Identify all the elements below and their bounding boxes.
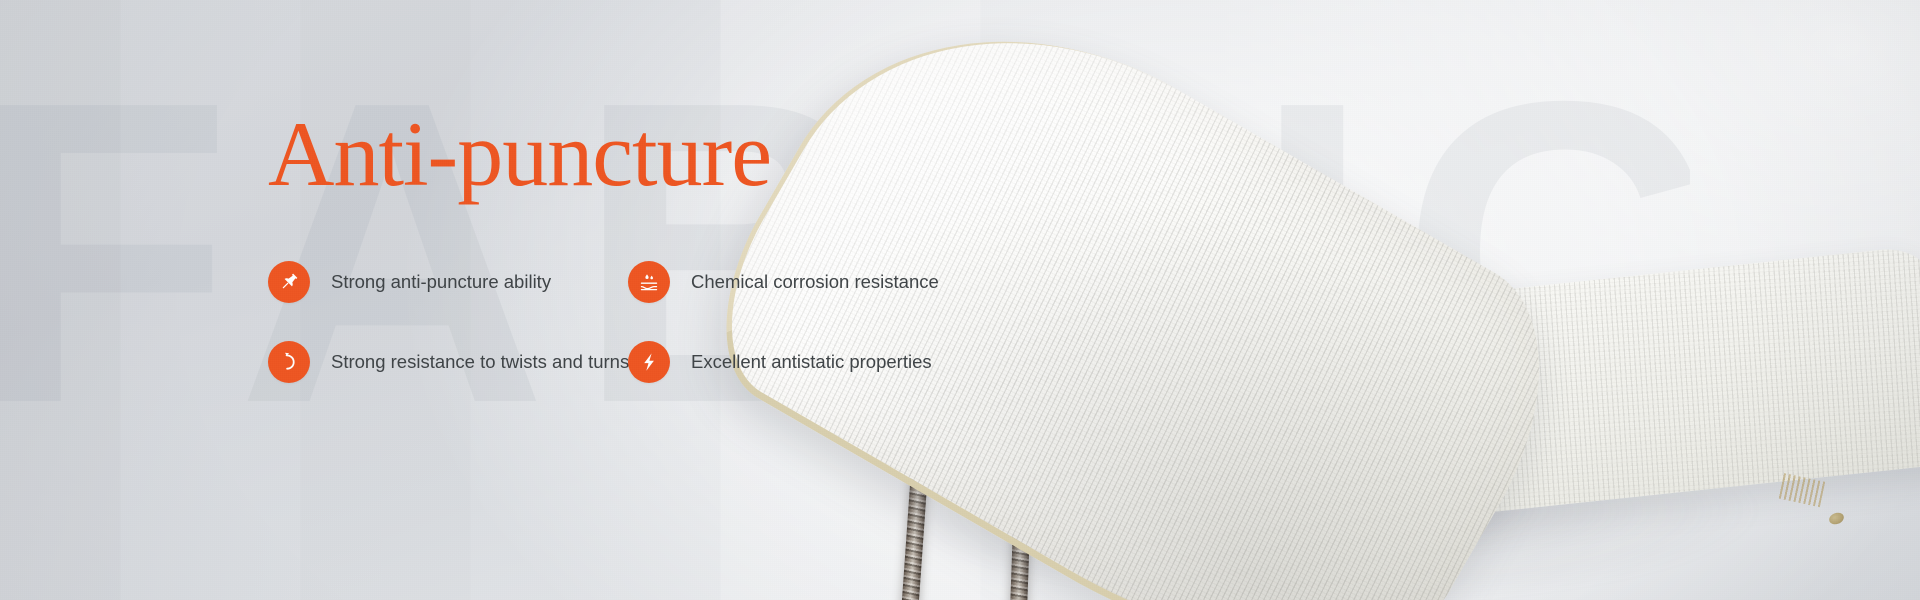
feature-item-chemical-corrosion: Chemical corrosion resistance	[628, 242, 958, 322]
feature-item-antistatic: Excellent antistatic properties	[628, 322, 958, 402]
product-feature-banner: FABRIC Anti-puncture	[0, 0, 1920, 600]
feature-item-twist-resistance: Strong resistance to twists and turns	[268, 322, 598, 402]
product-shadow	[880, 410, 1780, 600]
pushpin-icon	[268, 261, 310, 303]
midsole-heel-flare	[1240, 244, 1920, 536]
feature-item-anti-puncture: Strong anti-puncture ability	[268, 242, 598, 322]
rotate-arrow-icon	[268, 341, 310, 383]
feature-label: Strong resistance to twists and turns	[331, 351, 629, 373]
feature-label: Strong anti-puncture ability	[331, 271, 551, 293]
droplet-surface-icon	[628, 261, 670, 303]
feature-label: Chemical corrosion resistance	[691, 271, 939, 293]
feature-label: Excellent antistatic properties	[691, 351, 932, 373]
heel-flare-weave-texture	[1240, 244, 1920, 536]
banner-content: Anti-puncture Strong anti-puncture abili…	[268, 108, 1028, 402]
page-title: Anti-puncture	[268, 108, 1028, 200]
lightning-bolt-icon	[628, 341, 670, 383]
feature-list: Strong anti-puncture ability Chemical co…	[268, 242, 1028, 402]
gold-stamp	[1777, 473, 1825, 508]
eyelet-hole	[1828, 511, 1846, 526]
